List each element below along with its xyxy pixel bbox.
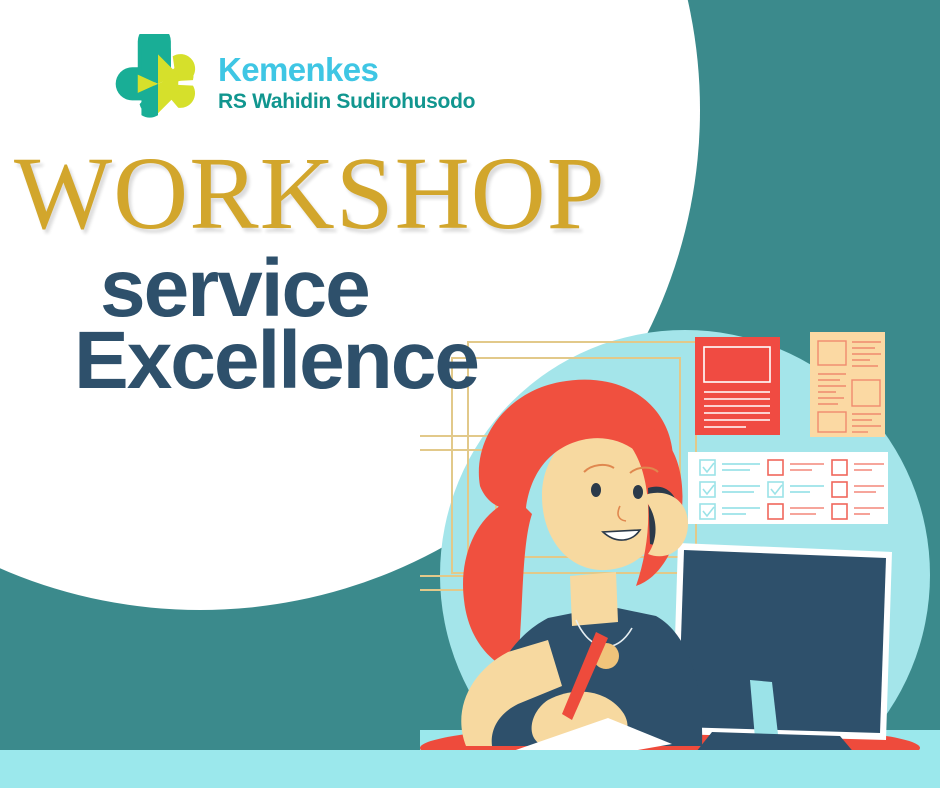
subtitle-line-2: Excellence [74, 322, 478, 400]
page-subtitle: service Excellence [74, 250, 478, 400]
kemenkes-flower-logo-icon [112, 34, 204, 130]
peach-poster [810, 332, 885, 437]
checklist-board [688, 452, 888, 524]
brand-title: Kemenkes [218, 53, 475, 86]
illustration-svg [420, 300, 940, 788]
eye-left [591, 483, 601, 497]
page-title: WORKSHOP [14, 142, 606, 246]
illustration-scene [420, 300, 940, 788]
brand-logo-block: Kemenkes RS Wahidin Sudirohusodo [112, 34, 475, 130]
red-poster [695, 337, 780, 435]
poster-canvas: Kemenkes RS Wahidin Sudirohusodo WORKSHO… [0, 0, 940, 788]
brand-subtitle: RS Wahidin Sudirohusodo [218, 91, 475, 112]
desktop-monitor [672, 543, 892, 755]
bottom-band [0, 750, 940, 788]
eye-right [633, 485, 643, 499]
brand-text: Kemenkes RS Wahidin Sudirohusodo [218, 53, 475, 112]
neck [570, 572, 618, 626]
